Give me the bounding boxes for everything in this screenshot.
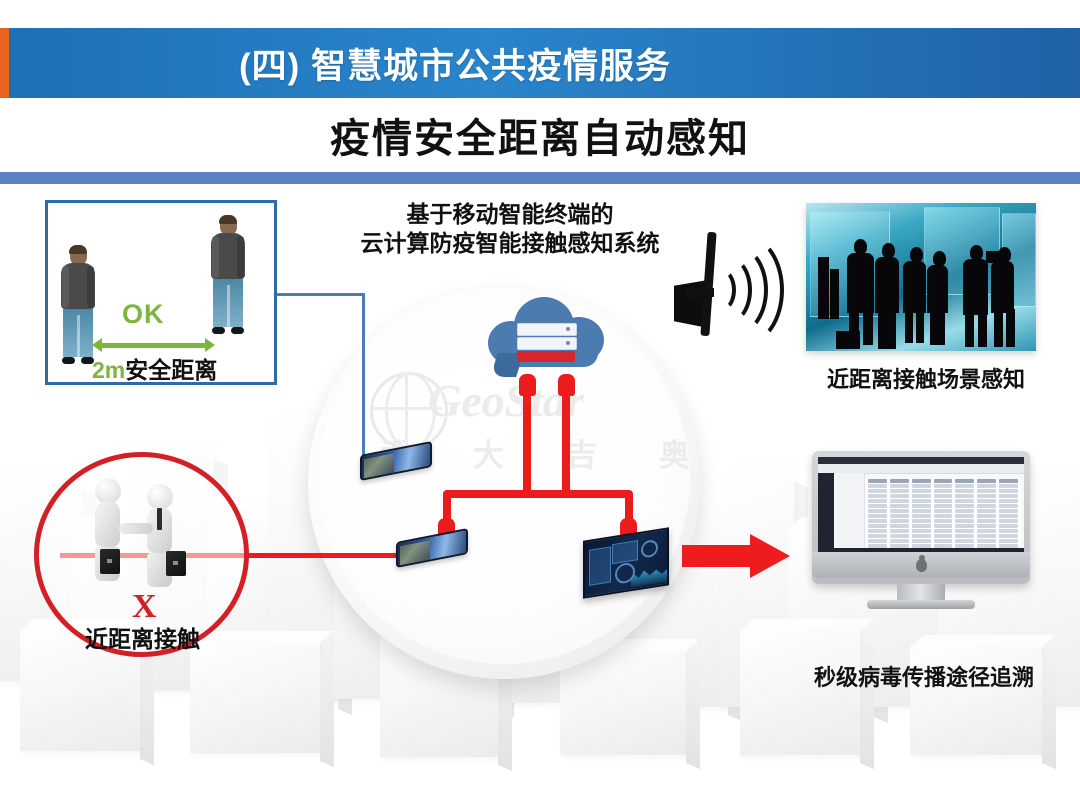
- imac-screen: [818, 457, 1024, 558]
- trace-caption: 秒级病毒传播途径追溯: [814, 660, 1034, 692]
- distance-arrow: [101, 343, 206, 348]
- briefcase-left: [100, 549, 120, 574]
- imac-foot: [867, 600, 975, 609]
- data-table: [865, 479, 1021, 546]
- person-right: [208, 215, 248, 334]
- person-torso: [211, 233, 245, 279]
- server-rack-1: [517, 323, 577, 336]
- figure-tie: [157, 508, 162, 530]
- imac-monitor: [812, 451, 1030, 611]
- safe-distance-box: OK 2m安全距离: [45, 200, 277, 385]
- center-headline: 基于移动智能终端的 云计算防疫智能接触感知系统: [320, 200, 700, 259]
- handshake: [119, 523, 153, 534]
- briefcase-right: [166, 551, 186, 576]
- figure-body: [95, 501, 120, 547]
- person-legs: [63, 309, 93, 357]
- distance-text: 安全距离: [125, 357, 217, 383]
- person-legs: [213, 279, 243, 327]
- subtitle-divider: [0, 172, 1080, 184]
- pipe-vertical-right: [562, 392, 570, 495]
- blue-connector-v1: [362, 293, 365, 461]
- close-contact-caption: 近距离接触: [85, 620, 200, 654]
- imac-chin: [812, 552, 1030, 578]
- person-head: [70, 245, 87, 265]
- server-rack-3: [517, 351, 575, 362]
- pipe-horizontal: [443, 490, 633, 498]
- person-shoes: [212, 327, 244, 334]
- page-subtitle: 疫情安全距离自动感知: [0, 104, 1080, 166]
- center-headline-line1: 基于移动智能终端的: [320, 200, 700, 229]
- apple-logo-icon: [916, 559, 927, 572]
- pipe-vertical-left: [523, 392, 531, 495]
- blue-connector-h1: [277, 293, 365, 296]
- distance-value: 2m: [92, 357, 125, 383]
- page-title: (四) 智慧城市公共疫情服务: [0, 28, 1080, 98]
- signal-wave-4: [706, 234, 784, 346]
- scene-caption: 近距离接触场景感知: [827, 362, 1025, 394]
- slide-root: (四) 智慧城市公共疫情服务 疫情安全距离自动感知 GeoStar 武 大 吉 …: [0, 0, 1080, 809]
- flow-arrow-icon: [682, 534, 790, 578]
- server-rack-2: [517, 337, 577, 350]
- ok-label: OK: [122, 299, 165, 330]
- center-headline-line2: 云计算防疫智能接触感知系统: [320, 229, 700, 258]
- person-torso: [61, 263, 95, 309]
- scene-photo: [806, 203, 1036, 351]
- person-head: [220, 215, 237, 235]
- cloud-server-icon: [488, 297, 604, 379]
- person-shoes: [62, 357, 94, 364]
- distance-label: 2m安全距离: [92, 351, 217, 385]
- antenna-icon: [672, 232, 802, 342]
